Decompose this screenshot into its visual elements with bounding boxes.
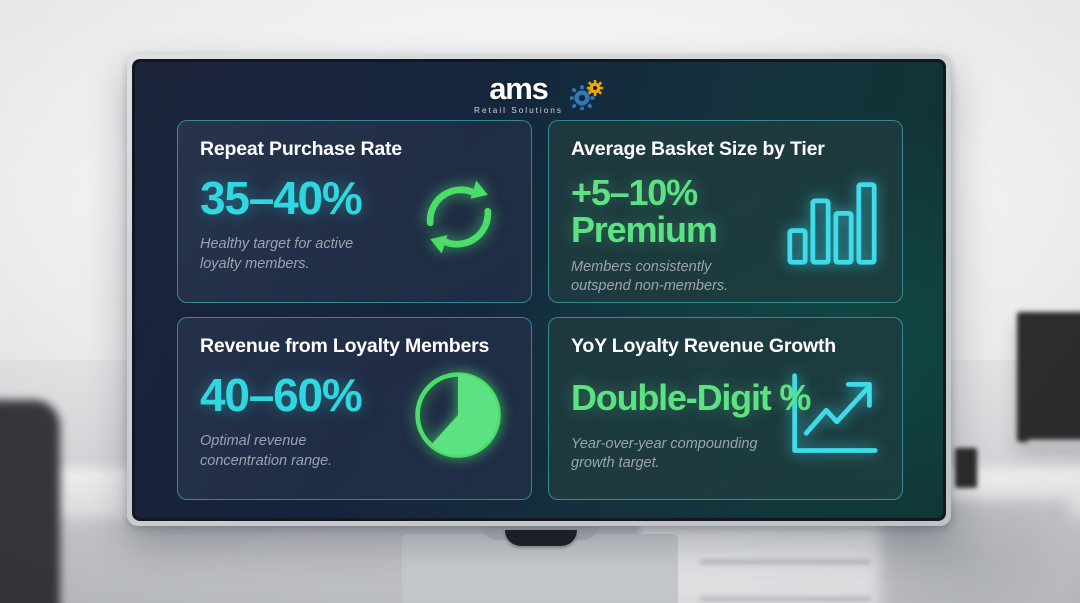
card-description: Year-over-year compounding growth target…: [571, 435, 810, 474]
card-title: YoY Loyalty Revenue Growth: [571, 335, 882, 358]
monitor-bezel: ams Retail Solutions: [127, 54, 951, 526]
card-body: 35–40% Healthy target for active loyalty…: [200, 161, 511, 288]
pie-chart-icon: [411, 368, 505, 462]
kpi-card-repeat-purchase-rate[interactable]: Repeat Purchase Rate 35–40% Healthy targ…: [177, 120, 532, 303]
refresh-cycle-icon: [411, 169, 507, 265]
card-body: 40–60% Optimal revenue concentration ran…: [200, 358, 511, 485]
card-value: 35–40%: [200, 175, 362, 222]
card-description: Optimal revenue concentration range.: [200, 432, 362, 471]
card-body: Double-Digit % Year-over-year compoundin…: [571, 358, 882, 485]
card-text-block: Double-Digit % Year-over-year compoundin…: [571, 358, 810, 473]
card-text-block: 35–40% Healthy target for active loyalty…: [200, 161, 362, 273]
monitor-inner-bezel: ams Retail Solutions: [132, 59, 946, 521]
card-description: Healthy target for active loyalty member…: [200, 235, 362, 274]
card-body: +5–10% Premium Members consistently outs…: [571, 161, 882, 296]
card-text-block: +5–10% Premium Members consistently outs…: [571, 161, 728, 296]
card-value: Double-Digit %: [571, 380, 810, 417]
card-text-block: 40–60% Optimal revenue concentration ran…: [200, 358, 362, 470]
card-title: Repeat Purchase Rate: [200, 138, 511, 161]
brand-logo: ams Retail Solutions: [135, 73, 943, 115]
kpi-card-yoy-loyalty-revenue-growth[interactable]: YoY Loyalty Revenue Growth Double-Digit …: [548, 317, 903, 500]
card-value: +5–10% Premium: [571, 175, 728, 248]
card-description: Members consistently outspend non-member…: [571, 258, 728, 297]
brand-wordmark: ams Retail Solutions: [474, 73, 563, 115]
card-title: Average Basket Size by Tier: [571, 138, 882, 161]
kpi-card-grid: Repeat Purchase Rate 35–40% Healthy targ…: [177, 120, 903, 500]
brand-name: ams: [489, 73, 547, 104]
monitor-stand-notch: [505, 530, 577, 546]
dashboard-screen: ams Retail Solutions: [135, 62, 943, 518]
gears-icon: [570, 80, 604, 110]
card-value: 40–60%: [200, 372, 362, 419]
kpi-card-average-basket-size[interactable]: Average Basket Size by Tier +5–10% Premi…: [548, 120, 903, 303]
bar-chart-icon: [784, 175, 880, 267]
brand-tagline: Retail Solutions: [474, 107, 563, 115]
kpi-card-revenue-from-loyalty-members[interactable]: Revenue from Loyalty Members 40–60% Opti…: [177, 317, 532, 500]
card-title: Revenue from Loyalty Members: [200, 335, 511, 358]
